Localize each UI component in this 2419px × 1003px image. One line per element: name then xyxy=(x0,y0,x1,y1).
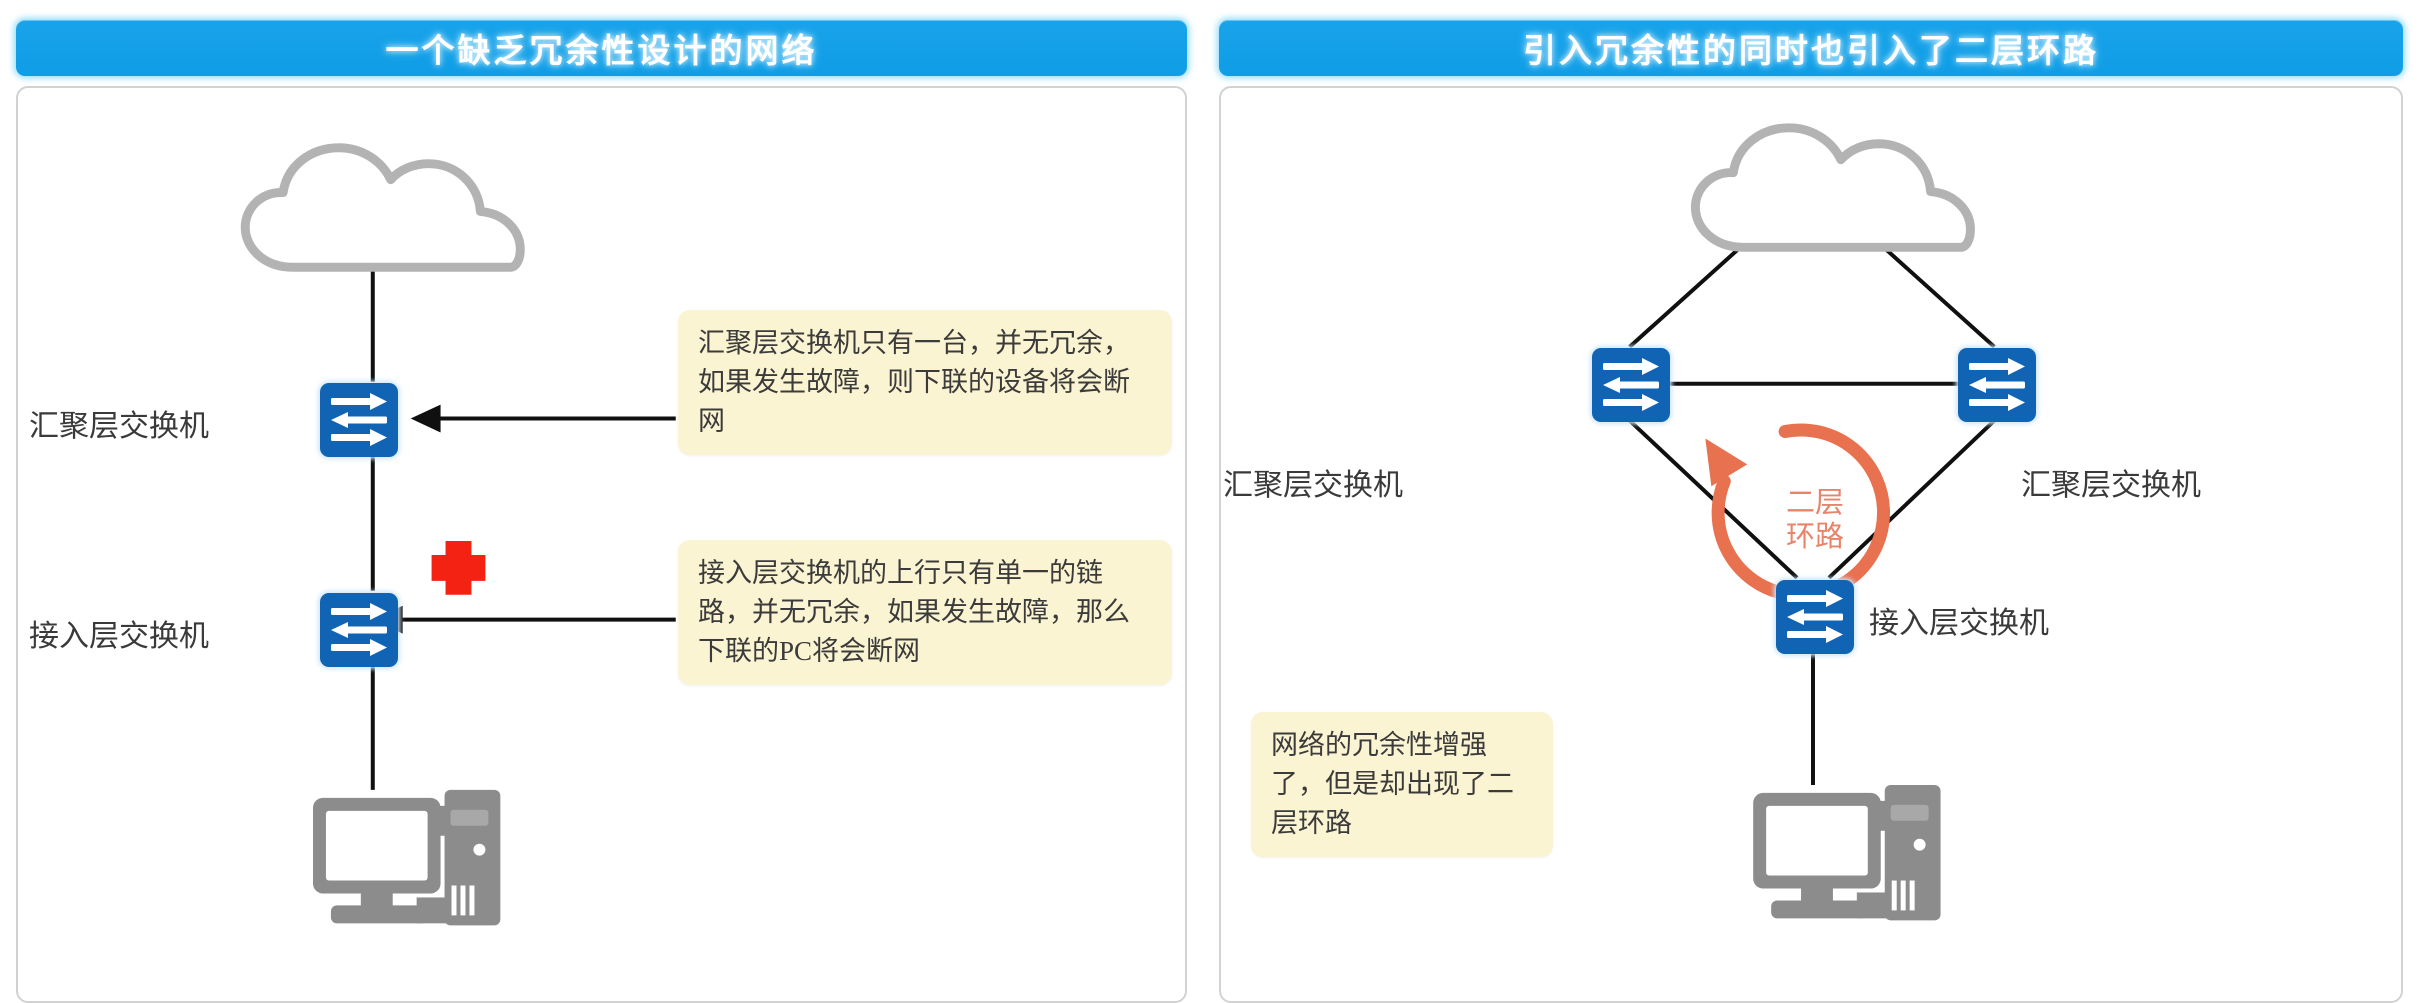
switch-icon[interactable] xyxy=(1776,580,1854,654)
callout-redundancy-creates-loop: 网络的冗余性增强了，但是却出现了二层环路 xyxy=(1251,712,1553,857)
panel-title-right: 引入冗余性的同时也引入了二层环路 xyxy=(1523,24,2099,72)
red-cross-fault-icon xyxy=(432,541,486,595)
loop-annotation-line1: 二层 xyxy=(1755,486,1875,520)
label-access-switch-left-panel: 接入层交换机 xyxy=(29,611,209,655)
callout-arrow-2 xyxy=(373,606,676,634)
cloud-icon xyxy=(1695,128,1970,247)
panel-title-bar-left: 一个缺乏冗余性设计的网络 xyxy=(16,20,1187,76)
panel-body-right: 汇聚层交换机 汇聚层交换机 接入层交换机 二层 环路 网络的冗余性增强了，但是却… xyxy=(1219,86,2403,1003)
panel-with-redundancy-loop: 引入冗余性的同时也引入了二层环路 xyxy=(1203,0,2419,1003)
callout-arrow-1 xyxy=(411,405,676,433)
switch-icon[interactable] xyxy=(1592,348,1670,422)
label-aggregation-switch-left: 汇聚层交换机 xyxy=(1223,460,1403,504)
switch-arrows-glyph xyxy=(320,383,398,457)
panel-title-left: 一个缺乏冗余性设计的网络 xyxy=(386,24,818,72)
desktop-pc-icon xyxy=(313,790,500,925)
callout-aggregation-single-point: 汇聚层交换机只有一台，并无冗余，如果发生故障，则下联的设备将会断网 xyxy=(678,310,1172,455)
diagram-root: 一个缺乏冗余性设计的网络 xyxy=(0,0,2419,1003)
label-aggregation-switch-right: 汇聚层交换机 xyxy=(2021,460,2201,504)
label-access-switch-right-panel: 接入层交换机 xyxy=(1869,598,2049,642)
access-switch-node[interactable] xyxy=(320,593,398,667)
desktop-pc-icon xyxy=(1753,785,1940,920)
access-switch-node[interactable] xyxy=(1776,580,1854,654)
switch-arrows-glyph xyxy=(1592,348,1670,422)
loop-annotation-line2: 环路 xyxy=(1755,520,1875,554)
link-cloud-to-aggregation-left xyxy=(1630,239,1750,347)
switch-arrows-glyph xyxy=(320,593,398,667)
panel-title-bar-right: 引入冗余性的同时也引入了二层环路 xyxy=(1219,20,2403,76)
switch-arrows-glyph xyxy=(1958,348,2036,422)
aggregation-switch-right-node[interactable] xyxy=(1958,348,2036,422)
loop-annotation: 二层 环路 xyxy=(1755,486,1875,554)
switch-icon[interactable] xyxy=(320,593,398,667)
aggregation-switch-node[interactable] xyxy=(320,383,398,457)
panel-no-redundancy: 一个缺乏冗余性设计的网络 xyxy=(0,0,1203,1003)
callout-access-uplink-single-link: 接入层交换机的上行只有单一的链路，并无冗余，如果发生故障，那么下联的PC将会断网 xyxy=(678,540,1172,685)
panel-body-left: 汇聚层交换机 接入层交换机 汇聚层交换机只有一台，并无冗余，如果发生故障，则下联… xyxy=(16,86,1187,1003)
cloud-icon xyxy=(245,148,520,267)
link-cloud-to-aggregation-right xyxy=(1875,239,1995,347)
switch-arrows-glyph xyxy=(1776,580,1854,654)
label-aggregation-switch-left-panel: 汇聚层交换机 xyxy=(29,401,209,445)
aggregation-switch-left-node[interactable] xyxy=(1592,348,1670,422)
switch-icon[interactable] xyxy=(1958,348,2036,422)
switch-icon[interactable] xyxy=(320,383,398,457)
